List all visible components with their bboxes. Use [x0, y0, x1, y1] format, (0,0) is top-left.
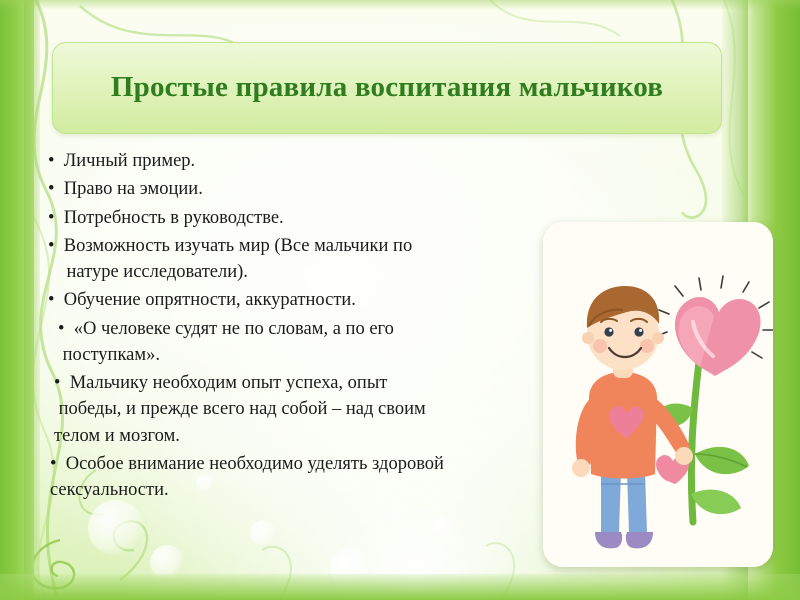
slide-title-box: Простые правила воспитания мальчиков: [52, 42, 722, 134]
bullet-list: • Личный пример. • Право на эмоции. • По…: [48, 148, 568, 505]
bottom-green-band: [0, 574, 800, 600]
list-item: • Право на эмоции.: [48, 176, 568, 202]
bokeh-1: [88, 500, 144, 556]
list-item: • «О человеке судят не по словам, а по е…: [48, 316, 568, 369]
list-item: • Обучение опрятности, аккуратности.: [48, 287, 568, 313]
bokeh-5: [432, 516, 454, 538]
list-item: • Потребность в руководстве.: [48, 205, 568, 231]
list-item: • Личный пример.: [48, 148, 568, 174]
list-item: • Возможность изучать мир (Все мальчики …: [48, 233, 568, 286]
list-item: • Особое внимание необходимо уделять здо…: [48, 451, 568, 504]
boy-with-heart-flower-icon: [543, 222, 773, 567]
slide: Простые правила воспитания мальчиков • Л…: [0, 0, 800, 600]
list-item: • Мальчику необходим опыт успеха, опыт п…: [48, 370, 568, 449]
slide-title: Простые правила воспитания мальчиков: [111, 70, 663, 105]
bokeh-3: [250, 520, 276, 546]
top-green-band: [0, 0, 800, 10]
left-green-band-inner: [24, 0, 40, 600]
illustration-frame: [543, 222, 773, 567]
